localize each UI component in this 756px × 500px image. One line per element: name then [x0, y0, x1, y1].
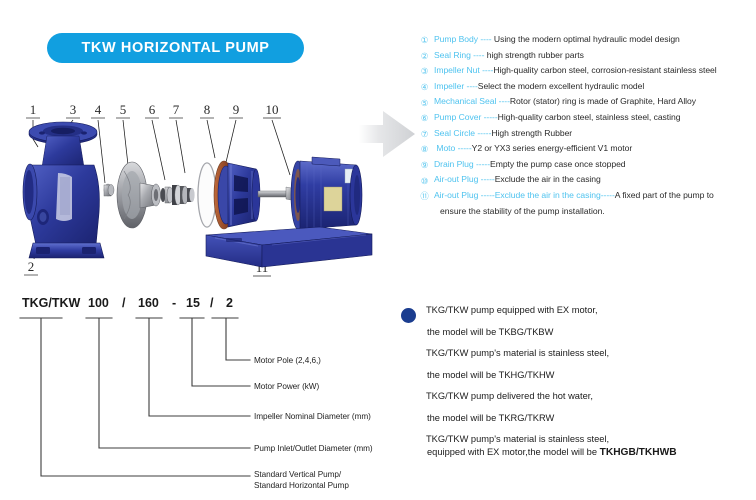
legend-dash: ---- [471, 50, 487, 60]
legend-description: Using the modern optimal hydraulic model… [494, 34, 680, 44]
legend-number-icon: ③ [418, 66, 431, 77]
legend-dash: ---- [480, 65, 494, 75]
svg-text:9: 9 [233, 102, 240, 117]
legend-part-name: Moto [436, 143, 455, 153]
exploded-pump-diagram: 1 3 4 5 6 7 8 9 10 [0, 95, 400, 290]
legend-description: Select the modern excellent hydraulic mo… [478, 81, 644, 91]
legend-description: Y2 or YX3 series energy-efficient V1 mot… [472, 143, 632, 153]
legend-description: High-quality carbon steel, corrosion-res… [493, 65, 716, 75]
legend-description: high strength rubber parts [487, 50, 584, 60]
note-line: the model will be TKBG/TKBW [427, 326, 751, 338]
legend-item: ⑦ Seal Circle -----High strength Rubber [418, 128, 754, 140]
legend-item: ④ Impeller ----Select the modern excelle… [418, 81, 754, 93]
legend-item: ⑩ Air-out Plug -----Exclude the air in t… [418, 174, 754, 186]
svg-text:7: 7 [173, 102, 180, 117]
legend-number-icon: ② [418, 51, 431, 62]
nomen-label-inlet-outlet: Pump Inlet/Outlet Diameter (mm) [254, 444, 373, 453]
legend-item: ① Pump Body ---- Using the modern optima… [418, 34, 754, 46]
right-arrow-icon [357, 103, 419, 165]
note-line: the model will be TKRG/TKRW [427, 412, 751, 424]
note-final-model: TKHGB/TKHWB [600, 447, 677, 458]
note-line: TKG/TKW pump's material is stainless ste… [426, 347, 751, 359]
svg-text:10: 10 [266, 102, 279, 117]
legend-part-name: Mechanical Seal [434, 96, 496, 106]
svg-text:8: 8 [204, 102, 211, 117]
legend-part-name: Seal Circle [434, 128, 475, 138]
legend-part-name: Impeller [434, 81, 464, 91]
legend-description: Rotor (stator) ring is made of Graphite,… [510, 96, 696, 106]
legend-item: ⑪ Air-out Plug -----Exclude the air in t… [418, 190, 754, 202]
legend-description: Exclude the air in the casing [495, 174, 601, 184]
svg-text:4: 4 [95, 102, 102, 117]
nomen-label-impeller-dia: Impeller Nominal Diameter (mm) [254, 412, 371, 421]
page-title-banner: TKW HORIZONTAL PUMP [47, 33, 304, 63]
nomen-label-motor-power: Motor Power (kW) [254, 382, 319, 391]
legend-part-name: Drain Plug [434, 159, 474, 169]
legend-item: ③ Impeller Nut ----High-quality carbon s… [418, 65, 754, 77]
svg-text:3: 3 [70, 102, 77, 117]
legend-item: ⑨ Drain Plug -----Empty the pump case on… [418, 159, 754, 171]
legend-number-icon: ⑥ [418, 113, 431, 124]
nomenclature-leader-lines [0, 296, 400, 496]
legend-number-icon: ⑧ [418, 144, 431, 155]
model-code-breakdown: TKG/TKW 100 / 160 - 15 / 2 Motor Pol [0, 296, 400, 496]
legend-description: High-quality carbon steel, stainless ste… [498, 112, 681, 122]
nomen-label-motor-pole: Motor Pole (2,4,6,) [254, 356, 321, 365]
note-line: the model will be TKHG/TKHW [427, 369, 751, 381]
page-title: TKW HORIZONTAL PUMP [81, 40, 269, 56]
legend-item-11-second-line: ensure the stability of the pump install… [440, 206, 754, 217]
svg-text:1: 1 [30, 102, 37, 117]
legend-dash: ----- [481, 112, 497, 122]
legend-item: ② Seal Ring ---- high strength rubber pa… [418, 50, 754, 62]
legend-part-name: Impeller Nut [434, 65, 480, 75]
legend-item: ⑧ Moto -----Y2 or YX3 series energy-effi… [418, 143, 754, 155]
model-variant-notes: TKG/TKW pump equipped with EX motor, the… [401, 304, 751, 468]
legend-number-icon: ⑤ [418, 97, 431, 108]
legend-part-name: Air-out Plug -----Exclude the air in the… [434, 190, 615, 200]
legend-number-icon: ① [418, 35, 431, 46]
legend-dash: ---- [496, 96, 510, 106]
legend-item: ⑤ Mechanical Seal ----Rotor (stator) rin… [418, 96, 754, 108]
legend-dash: ---- [464, 81, 478, 91]
legend-dash: ----- [474, 159, 490, 169]
legend-number-icon: ⑦ [418, 129, 431, 140]
bullet-point-icon [401, 308, 416, 323]
legend-dash: ---- [478, 34, 494, 44]
legend-dash: ----- [478, 174, 494, 184]
legend-number-icon: ⑪ [418, 191, 431, 202]
parts-legend-list: ① Pump Body ---- Using the modern optima… [418, 34, 754, 216]
legend-dash: ----- [455, 143, 471, 153]
nomen-label-standard-horizontal: Standard Horizontal Pump [254, 481, 349, 490]
svg-text:6: 6 [149, 102, 156, 117]
svg-text:5: 5 [120, 102, 127, 117]
note-line-final: equipped with EX motor,the model will be… [427, 446, 751, 459]
legend-part-name: Pump Body [434, 34, 478, 44]
note-line: TKG/TKW pump delivered the hot water, [426, 390, 751, 402]
legend-number-icon: ⑩ [418, 175, 431, 186]
note-final-prefix: equipped with EX motor,the model will be [427, 447, 600, 457]
legend-number-icon: ④ [418, 82, 431, 93]
legend-part-name: Air-out Plug [434, 174, 478, 184]
legend-dash: ----- [475, 128, 491, 138]
legend-description: Empty the pump case once stopped [490, 159, 626, 169]
note-line: TKG/TKW pump's material is stainless ste… [426, 433, 751, 445]
nomen-label-standard-vertical: Standard Vertical Pump/ [254, 470, 341, 479]
legend-part-name: Seal Ring [434, 50, 471, 60]
legend-description: High strength Rubber [491, 128, 572, 138]
legend-part-name: Pump Cover [434, 112, 481, 122]
legend-description: A fixed part of the pump to [615, 190, 714, 200]
note-line: TKG/TKW pump equipped with EX motor, [426, 304, 751, 316]
legend-item: ⑥ Pump Cover -----High-quality carbon st… [418, 112, 754, 124]
legend-number-icon: ⑨ [418, 160, 431, 171]
svg-text:2: 2 [28, 259, 35, 274]
